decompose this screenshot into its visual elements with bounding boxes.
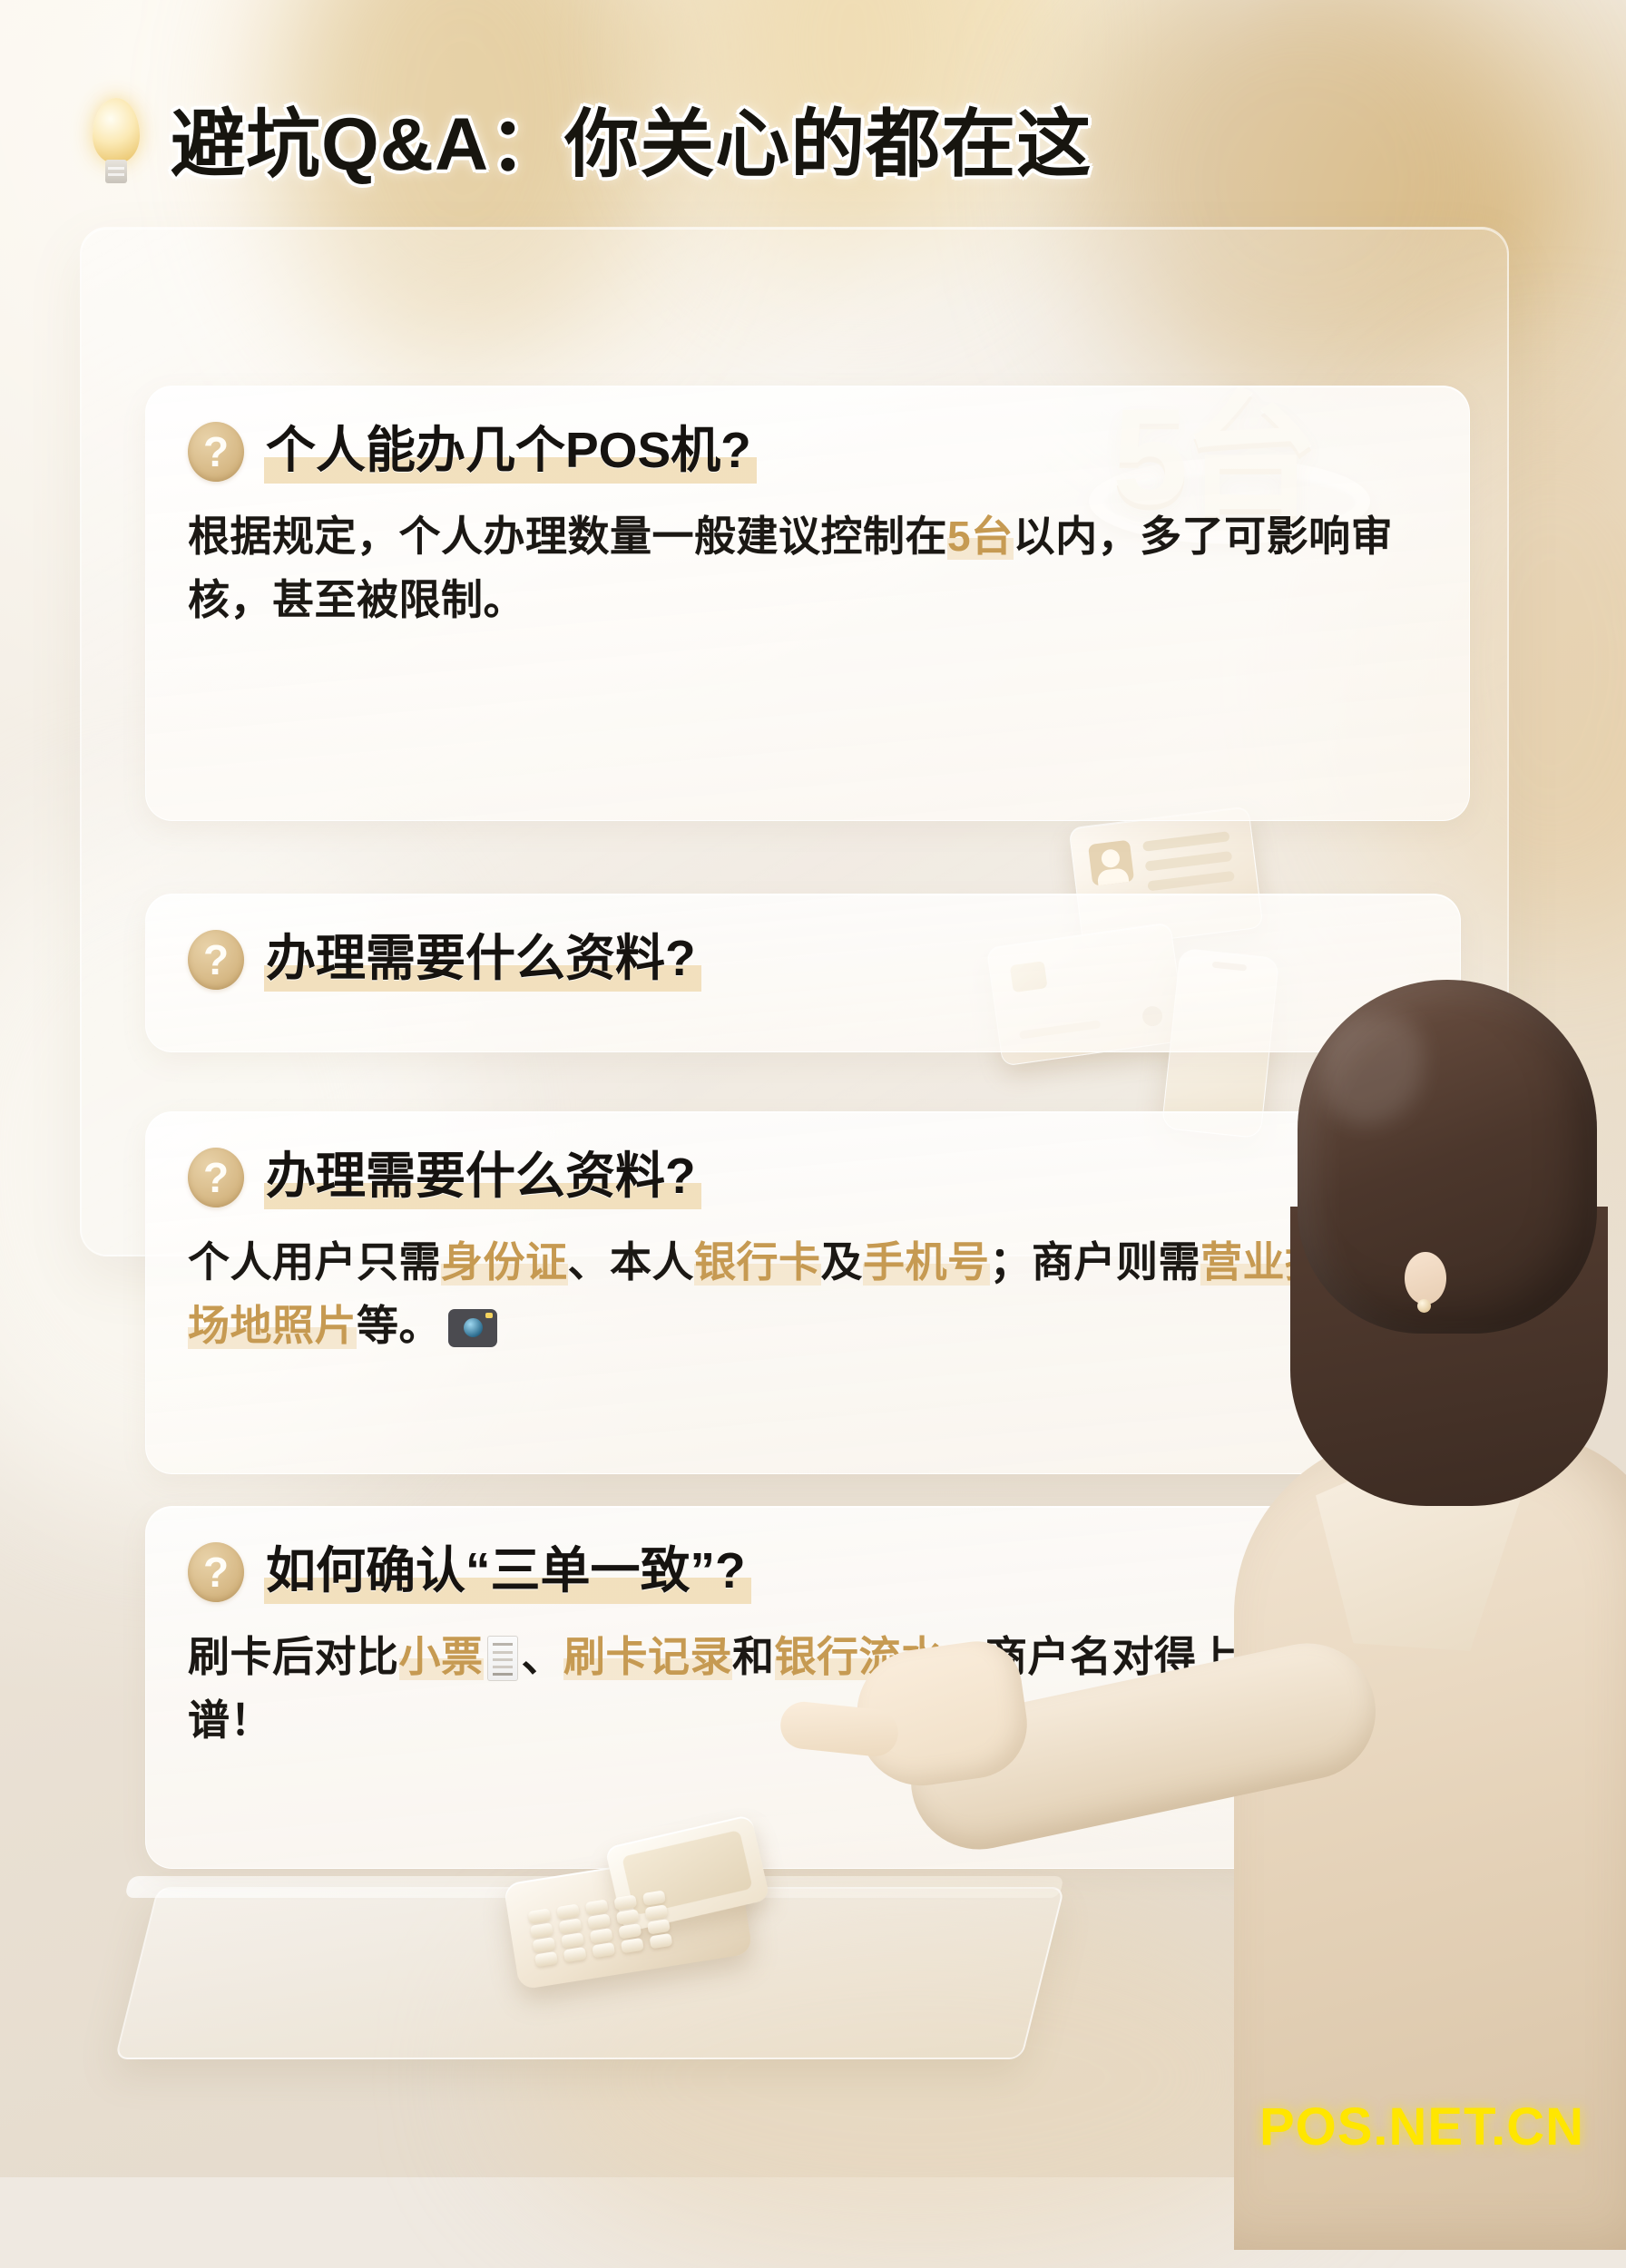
question-row: ? 个人能办几个POS机? <box>188 421 1427 484</box>
answer-segment: 、 <box>522 1633 564 1680</box>
highlighted-term: 银行卡 <box>694 1238 821 1286</box>
answer-segment: 根据规定，个人办理数量一般建议控制在 <box>188 513 947 560</box>
question-title: 个人能办几个POS机? <box>264 421 757 484</box>
highlighted-term: 场地照片 <box>188 1302 357 1349</box>
highlighted-term: 5台 <box>947 513 1014 560</box>
highlighted-term: 身份证 <box>441 1238 568 1286</box>
answer-segment: 刷卡后对比 <box>188 1633 399 1680</box>
question-mark-icon: ? <box>188 930 244 990</box>
character-illustration <box>1207 980 1626 2186</box>
camera-icon <box>448 1309 497 1347</box>
page-header: 避坑Q&A：你关心的都在这 <box>0 82 1143 209</box>
answer-segment: ；商户则需 <box>990 1238 1201 1286</box>
receipt-icon <box>487 1636 518 1681</box>
question-title: 如何确认“三单一致”? <box>264 1541 751 1604</box>
highlighted-term: 小票 <box>399 1633 484 1680</box>
page-title: 避坑Q&A：你关心的都在这 <box>171 108 1092 182</box>
qa-card[interactable]: ? 个人能办几个POS机? 根据规定，个人办理数量一般建议控制在5台以内，多了可… <box>145 386 1470 821</box>
answer-segment: 个人用户只需 <box>188 1238 441 1286</box>
lightbulb-icon <box>87 98 145 192</box>
answer-text: 根据规定，个人办理数量一般建议控制在5台以内，多了可影响审核，甚至被限制。 <box>188 505 1427 632</box>
watermark: POS.NET.CN <box>1259 2097 1584 2157</box>
answer-segment: 及 <box>821 1238 864 1286</box>
answer-segment: 和 <box>732 1633 775 1680</box>
highlighted-term: 刷卡记录 <box>563 1633 732 1680</box>
answer-segment: 、本人 <box>568 1238 695 1286</box>
question-mark-icon: ? <box>188 422 244 482</box>
answer-segment: 等。 <box>357 1302 441 1349</box>
question-mark-icon: ? <box>188 1542 244 1602</box>
question-title: 办理需要什么资料? <box>264 1147 701 1209</box>
highlighted-term: 手机号 <box>863 1238 990 1286</box>
question-title: 办理需要什么资料? <box>264 929 701 992</box>
question-mark-icon: ? <box>188 1148 244 1207</box>
